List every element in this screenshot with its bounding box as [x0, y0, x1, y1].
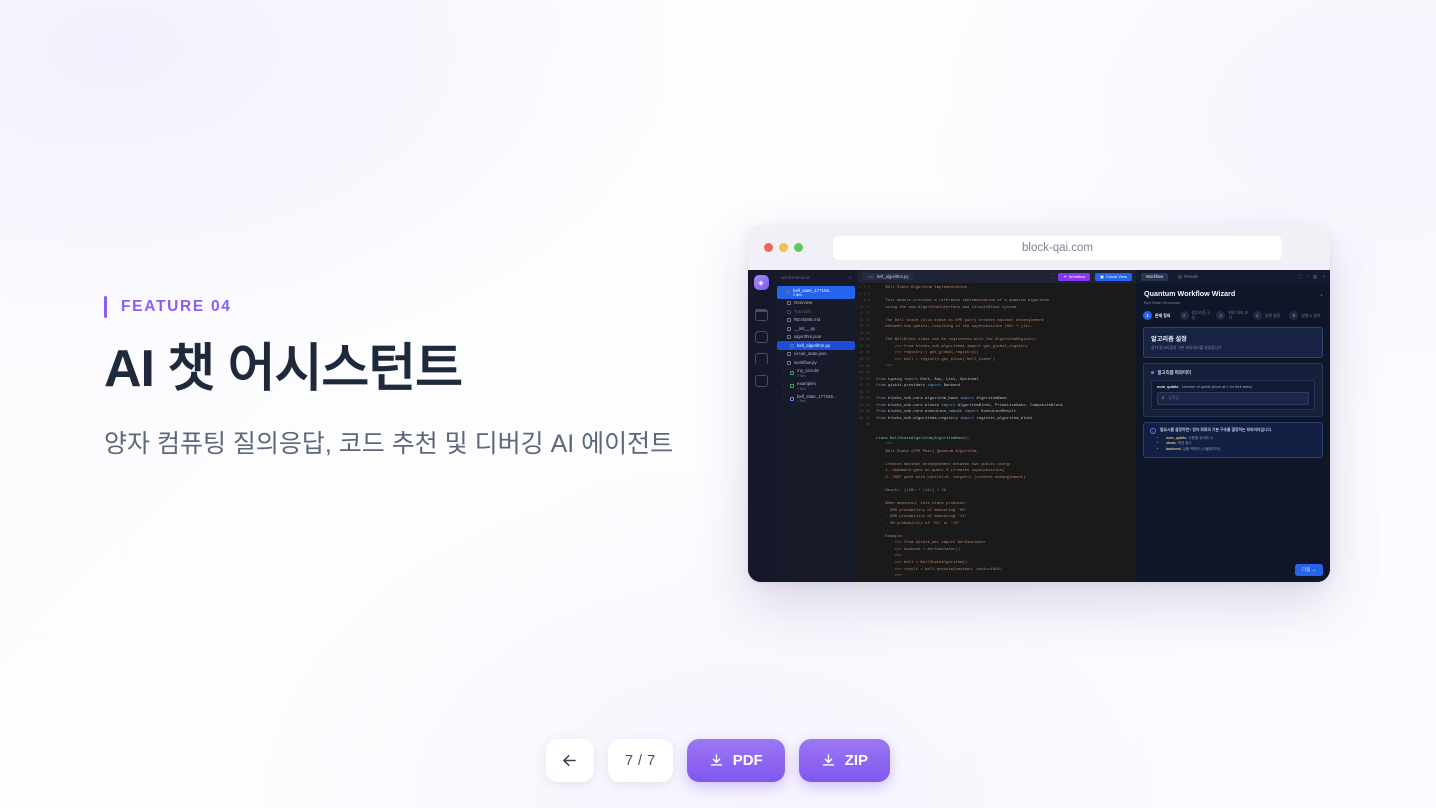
maximize-dot-icon[interactable]: [794, 243, 803, 252]
terminal-icon[interactable]: [755, 375, 768, 387]
wizard-step[interactable]: 4실행 설정: [1253, 311, 1287, 320]
num-qubits-input[interactable]: 2 입력값: [1157, 392, 1309, 405]
file-tree-item[interactable]: circuit_state.json: [774, 350, 858, 359]
file-tree-item-size: 1 files: [797, 387, 816, 391]
wizard-heading-card: 알고리즘 설정 양자 알고리즘의 기본 파라미터를 설정합니다: [1143, 327, 1323, 358]
tab-workflow[interactable]: Workflow: [1141, 273, 1168, 281]
wizard-step-label: 문제 정의: [1155, 313, 1170, 318]
file-tree-item[interactable]: ›my_circuits0 files: [774, 367, 858, 380]
arrow-left-icon: [560, 751, 579, 770]
info-title: 필요시를 설정하면? 양자 회로의 기본 구조를 결정하는 파라미터입니다.: [1160, 428, 1272, 433]
page-title: AI 챗 어시스턴트: [104, 340, 704, 398]
workflow-badge[interactable]: ✦ Workflow: [1058, 273, 1090, 281]
folder-green-icon: [790, 384, 794, 388]
code-scroll-area[interactable]: 2 3 4 5 6 7 8 9 10 11 12 13 14 15 16 17 …: [858, 283, 1136, 582]
file-tree-item[interactable]: bell_algorithm.py: [777, 341, 855, 350]
wizard-subtitle: Bell State Generator: [1144, 300, 1322, 305]
file-tree-header: WORKSPACE +: [774, 275, 858, 286]
tab-results-label: Results: [1184, 274, 1198, 279]
wizard-step-label: 실행 & 결과: [1301, 313, 1320, 318]
page-indicator: 7 / 7: [608, 739, 673, 782]
file-tree-item[interactable]: ›bell_state_177155...1 files: [774, 392, 858, 405]
url-bar[interactable]: block-qai.com: [833, 236, 1282, 260]
file-tree-item-label: Overview: [794, 300, 812, 306]
workflow-badge-label: Workflow: [1069, 274, 1085, 279]
minimize-dot-icon[interactable]: [779, 243, 788, 252]
info-item-text: : 사용할 큐비트 수: [1186, 436, 1213, 440]
num-qubits-key: num_qubits: [1157, 385, 1179, 389]
wizard-header: Quantum Workflow Wizard Bell State Gener…: [1136, 283, 1330, 310]
file-tree-item-label: README.md: [794, 317, 820, 323]
bottom-controls: 7 / 7 PDF ZIP: [0, 739, 1436, 782]
traffic-lights: [764, 243, 803, 252]
editor-tab-label: bell_algorithm.py: [877, 274, 909, 279]
app-logo-icon: ◈: [754, 275, 769, 290]
circuit-view-badge[interactable]: ▣ Circuit View: [1095, 273, 1132, 281]
editor-tabbar: </> bell_algorithm.py ⛶ ✦ Workflow ▣ Cir…: [858, 270, 1136, 283]
expand-icon[interactable]: ⛶: [1298, 274, 1301, 279]
wizard-step-heading: 알고리즘 설정: [1151, 334, 1315, 343]
num-qubits-placeholder: 입력값: [1168, 395, 1179, 401]
chevron-right-icon[interactable]: ›: [783, 396, 787, 400]
chevron-right-icon[interactable]: ›: [783, 384, 787, 388]
info-item-key: shots: [1166, 441, 1176, 445]
parameters-title-label: 알고리즘 파라미터: [1158, 370, 1192, 376]
add-file-button[interactable]: +: [849, 275, 852, 280]
eyebrow-label: FEATURE 04: [121, 298, 232, 316]
file-tree-item[interactable]: bell_state_177155...0 files: [777, 286, 855, 299]
file-tree-item-label: Tutorials: [794, 309, 811, 315]
num-qubits-desc: - Number of qubits (fixed at 2 for Bell …: [1179, 385, 1252, 389]
hero-section: FEATURE 04 AI 챗 어시스턴트 양자 컴퓨팅 질의응답, 코드 추천…: [104, 296, 704, 465]
back-button[interactable]: [546, 739, 594, 782]
download-zip-button[interactable]: ZIP: [799, 739, 890, 782]
flow-icon: ✦: [1063, 274, 1066, 279]
num-qubits-field: num_qubits - Number of qubits (fixed at …: [1151, 380, 1315, 410]
folder-icon[interactable]: [755, 309, 768, 321]
wizard-steps: 1문제 정의2알고리즘 구성3회로 미리 보기4실행 설정5실행 & 결과: [1136, 310, 1330, 327]
file-tree-item[interactable]: README.md: [774, 316, 858, 325]
close-icon[interactable]: ×: [1322, 274, 1325, 279]
file-tree-item-size: 1 files: [797, 399, 837, 403]
file-tree-item[interactable]: Overview: [774, 299, 858, 308]
file-tree-item[interactable]: ›examples1 files: [774, 380, 858, 393]
next-button[interactable]: 다음 →: [1295, 564, 1323, 576]
doc-icon: [787, 335, 791, 339]
file-tree-item[interactable]: algorithm.json: [774, 333, 858, 342]
wizard-step-number: 5: [1289, 311, 1298, 320]
num-qubits-label: num_qubits - Number of qubits (fixed at …: [1157, 385, 1309, 389]
wizard-body: 알고리즘 설정 양자 알고리즘의 기본 파라미터를 설정합니다 알고리즘 파라미…: [1136, 327, 1330, 458]
download-icon: [821, 753, 836, 768]
chip-icon: ▣: [1100, 274, 1104, 279]
file-tree-list: bell_state_177155...0 filesOverviewTutor…: [774, 286, 858, 405]
file-tree-item-label: circuit_state.json: [794, 351, 827, 357]
split-icon[interactable]: ⛶: [1051, 274, 1054, 280]
download-pdf-label: PDF: [733, 752, 763, 769]
close-dot-icon[interactable]: [764, 243, 773, 252]
file-tree-item-label: __init__.py: [794, 326, 815, 332]
file-tree-item[interactable]: workflow.py: [774, 358, 858, 367]
wizard-step-number: 4: [1253, 311, 1262, 320]
doc-icon: [787, 318, 791, 322]
tab-results[interactable]: ▤ Results: [1173, 273, 1203, 281]
code-icon: </>: [868, 274, 874, 279]
wizard-step-number: 1: [1143, 311, 1152, 320]
download-icon: [709, 753, 724, 768]
wizard-close-icon[interactable]: ×: [1320, 293, 1323, 299]
wizard-step[interactable]: 1문제 정의: [1143, 311, 1177, 320]
activity-rail: ◈: [748, 270, 774, 582]
line-number-gutter: 2 3 4 5 6 7 8 9 10 11 12 13 14 15 16 17 …: [858, 283, 873, 582]
info-item-key: backend: [1166, 447, 1181, 451]
browser-mockup: block-qai.com ◈ WORKSPACE + bell_state_1…: [748, 225, 1330, 582]
file-tree-item[interactable]: __init__.py: [774, 324, 858, 333]
info-list-item: backend: 실행 백엔드 (시뮬레이터): [1166, 447, 1272, 453]
file-tree-item[interactable]: Tutorials: [774, 307, 858, 316]
chevron-right-icon[interactable]: ›: [783, 371, 787, 375]
code-content[interactable]: Bell State Algorithm Implementation. Thi…: [873, 283, 1136, 582]
wizard-step-number: 2: [1180, 311, 1189, 320]
doc-icon: [787, 310, 791, 314]
doc-icon: [787, 361, 791, 365]
editor-tab-bell-algorithm[interactable]: </> bell_algorithm.py: [862, 273, 914, 280]
node-blue-icon: [790, 397, 794, 401]
file-tree-item-size: 0 files: [793, 293, 833, 297]
ide-window: ◈ WORKSPACE + bell_state_177155...0 file…: [748, 270, 1330, 582]
parameters-section-title: 알고리즘 파라미터: [1151, 370, 1315, 376]
wizard-step[interactable]: 5실행 & 결과: [1289, 311, 1323, 320]
workspace-label: WORKSPACE: [781, 275, 810, 280]
download-zip-label: ZIP: [845, 752, 868, 769]
code-editor: </> bell_algorithm.py ⛶ ✦ Workflow ▣ Cir…: [858, 270, 1136, 582]
wizard-step-label: 회로 미리 보기: [1228, 310, 1250, 320]
wizard-step-subheading: 양자 알고리즘의 기본 파라미터를 설정합니다: [1151, 346, 1315, 351]
parameters-card: 알고리즘 파라미터 num_qubits - Number of qubits …: [1143, 363, 1323, 417]
chat-icon[interactable]: [755, 353, 768, 365]
doc-icon: [787, 301, 791, 305]
folder-green-icon: [790, 371, 794, 375]
file-tree: WORKSPACE + bell_state_177155...0 filesO…: [774, 270, 858, 582]
circuit-badge-label: Circuit View: [1106, 274, 1127, 279]
file-tree-item-label: bell_algorithm.py: [797, 343, 830, 349]
bullet-icon: [1151, 371, 1154, 374]
doc-icon: [787, 327, 791, 331]
num-qubits-value: 2: [1162, 395, 1164, 401]
wizard-step[interactable]: 3회로 미리 보기: [1216, 310, 1250, 320]
info-icon: i: [1150, 428, 1156, 434]
info-callout: i 필요시를 설정하면? 양자 회로의 기본 구조를 결정하는 파라미터입니다.…: [1143, 422, 1323, 459]
doc-icon: [790, 344, 794, 348]
wizard-step[interactable]: 2알고리즘 구성: [1180, 310, 1214, 320]
file-tree-item-size: 0 files: [797, 374, 819, 378]
browser-titlebar: block-qai.com: [748, 225, 1330, 270]
wizard-title: Quantum Workflow Wizard: [1144, 289, 1322, 298]
wizard-tabbar: Workflow ▤ Results ⛶ ‹ ▤ ×: [1136, 270, 1330, 283]
prev-icon[interactable]: ‹: [1306, 274, 1308, 279]
feature-eyebrow: FEATURE 04: [104, 296, 704, 318]
info-item-key: num_qubits: [1166, 436, 1186, 440]
info-item-text: : 실행 백엔드 (시뮬레이터): [1181, 447, 1220, 451]
wizard-step-number: 3: [1216, 311, 1225, 320]
wizard-footer: 다음 →: [1136, 558, 1330, 582]
info-list: num_qubits: 사용할 큐비트 수shots: 측정 횟수backend…: [1166, 436, 1272, 453]
download-pdf-button[interactable]: PDF: [687, 739, 785, 782]
file-tree-item-label: algorithm.json: [794, 334, 821, 340]
node-icon: [786, 290, 790, 294]
file-tree-item-label: workflow.py: [794, 360, 817, 366]
wizard-step-label: 실행 설정: [1265, 313, 1280, 318]
workflow-wizard-panel: Workflow ▤ Results ⛶ ‹ ▤ × Quantum Workf…: [1136, 270, 1330, 582]
doc-icon: [787, 352, 791, 356]
page-subtitle: 양자 컴퓨팅 질의응답, 코드 추천 및 디버깅 AI 에이전트: [104, 424, 679, 465]
info-item-text: : 측정 횟수: [1176, 441, 1192, 445]
wizard-step-label: 알고리즘 구성: [1192, 310, 1214, 320]
chart-icon: ▤: [1178, 274, 1182, 279]
panel-icon[interactable]: ▤: [1313, 274, 1317, 280]
eyebrow-accent-bar: [104, 296, 107, 318]
robot-icon[interactable]: [755, 331, 768, 343]
